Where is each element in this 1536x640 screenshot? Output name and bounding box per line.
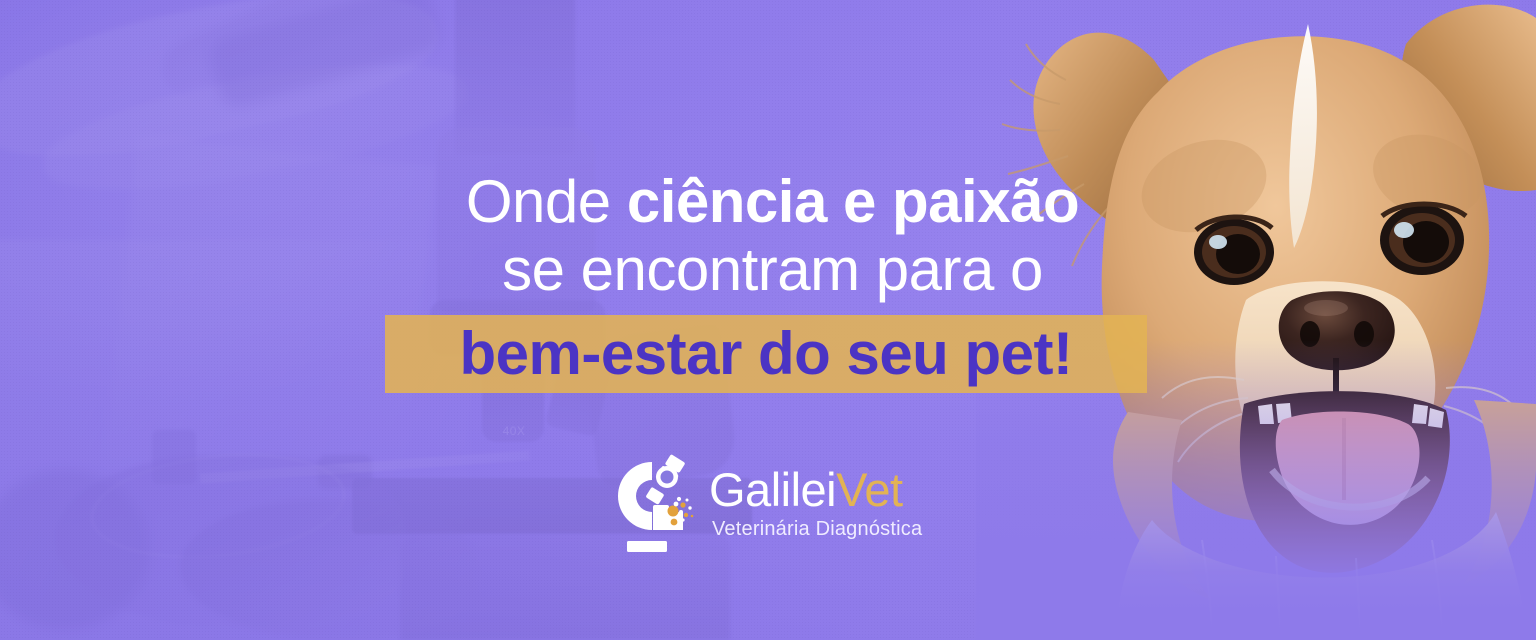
logo-wordmark: GalileiVet Veterinária Diagnóstica bbox=[709, 465, 922, 541]
microscope-g-icon bbox=[607, 448, 699, 558]
galilei-vet-logo: GalileiVet Veterinária Diagnóstica bbox=[607, 448, 922, 558]
headline-line-1-bold: ciência e paixão bbox=[627, 168, 1079, 235]
headline-line-1-regular: Onde bbox=[466, 168, 627, 235]
headline-line-1: Onde ciência e paixão bbox=[385, 168, 1160, 236]
headline-block: Onde ciência e paixão se encontram para … bbox=[385, 168, 1160, 304]
logo-name-galilei: Galilei bbox=[709, 463, 836, 516]
marketing-banner: 40X bbox=[0, 0, 1536, 640]
logo-name-vet: Vet bbox=[836, 463, 902, 516]
headline-line-3: bem-estar do seu pet! bbox=[460, 323, 1073, 385]
logo-tagline: Veterinária Diagnóstica bbox=[712, 517, 922, 541]
logo-name: GalileiVet bbox=[709, 465, 903, 515]
headline-highlight-bar: bem-estar do seu pet! bbox=[385, 315, 1147, 393]
headline-line-2: se encontram para o bbox=[385, 236, 1160, 304]
